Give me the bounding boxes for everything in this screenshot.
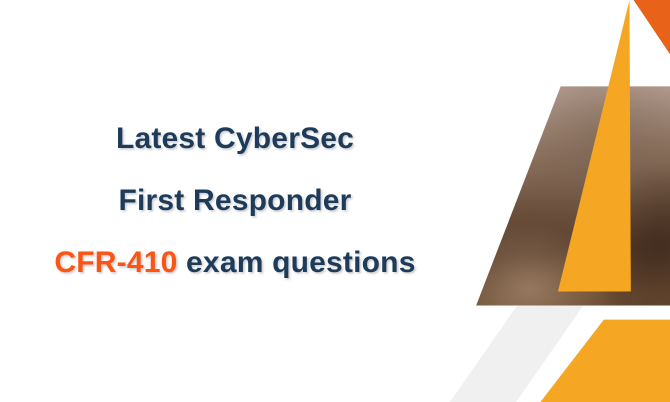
headline-line-2: First Responder <box>118 185 351 217</box>
headline-line-1: Latest CyberSec <box>116 123 354 155</box>
headline-block: Latest CyberSec First Responder CFR-410 … <box>0 0 470 402</box>
promo-banner: Latest CyberSec First Responder CFR-410 … <box>0 0 670 402</box>
headline-line-3: CFR-410 exam questions <box>54 247 415 279</box>
exam-code-label: CFR-410 <box>54 246 177 279</box>
headline-line-3-suffix: exam questions <box>178 246 416 279</box>
